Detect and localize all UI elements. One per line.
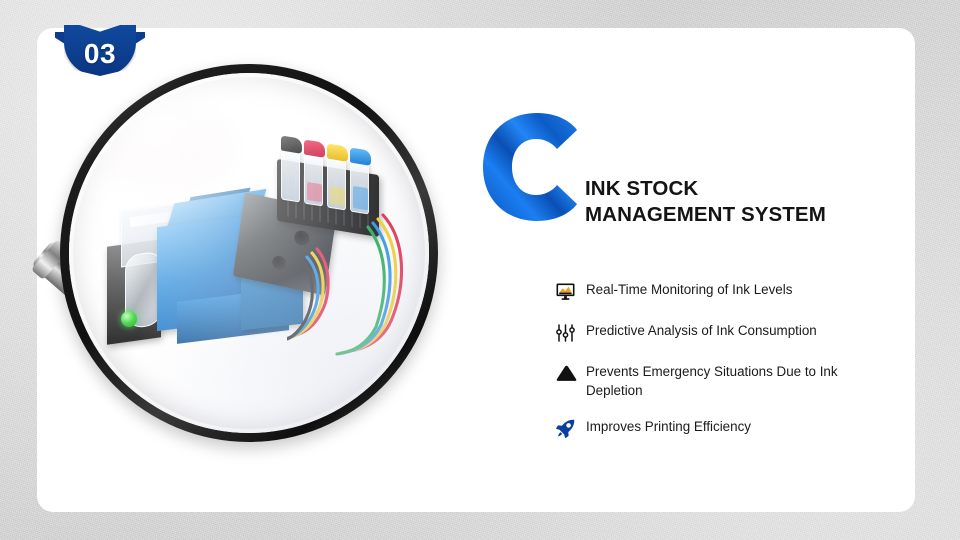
feature-item: Prevents Emergency Situations Due to Ink… xyxy=(556,362,886,400)
ink-tank-black xyxy=(281,147,300,202)
feature-list: Real-Time Monitoring of Ink Levels Predi… xyxy=(556,280,886,458)
slide-number-badge: 03 xyxy=(64,12,136,76)
ink-tank-cap xyxy=(350,147,371,165)
device-status-led xyxy=(121,311,137,327)
ink-tank-yellow xyxy=(327,155,346,210)
rocket-icon xyxy=(556,417,586,439)
feature-label: Improves Printing Efficiency xyxy=(586,417,751,437)
slide-number-text: 03 xyxy=(64,38,136,70)
magnifier-illustration xyxy=(60,64,438,442)
feature-label: Predictive Analysis of Ink Consumption xyxy=(586,321,817,341)
ink-tank-cap xyxy=(327,143,348,161)
magnifier-ring xyxy=(60,64,438,442)
section-title-line-1: INK STOCK xyxy=(585,176,885,202)
sliders-tune-icon xyxy=(556,321,586,343)
feature-label: Real-Time Monitoring of Ink Levels xyxy=(586,280,792,300)
ink-tank-cap xyxy=(304,139,325,157)
ink-tank-cap xyxy=(281,135,302,153)
ink-tank-cyan xyxy=(350,159,369,214)
monitor-chart-icon xyxy=(556,280,586,302)
section-title-line-2: MANAGEMENT SYSTEM xyxy=(585,202,885,228)
ink-tank-magenta xyxy=(304,151,323,206)
feature-label: Prevents Emergency Situations Due to Ink… xyxy=(586,362,886,400)
ciss-ink-system-device xyxy=(91,135,421,385)
feature-item: Real-Time Monitoring of Ink Levels xyxy=(556,280,886,302)
magnifier-lens xyxy=(69,73,429,433)
feature-item: Predictive Analysis of Ink Consumption xyxy=(556,321,886,343)
feature-item: Improves Printing Efficiency xyxy=(556,417,886,439)
section-title: INK STOCK MANAGEMENT SYSTEM xyxy=(585,176,885,228)
ink-supply-tubes xyxy=(287,209,417,359)
section-letter-logo xyxy=(483,113,577,221)
warning-triangle-icon xyxy=(556,362,586,384)
